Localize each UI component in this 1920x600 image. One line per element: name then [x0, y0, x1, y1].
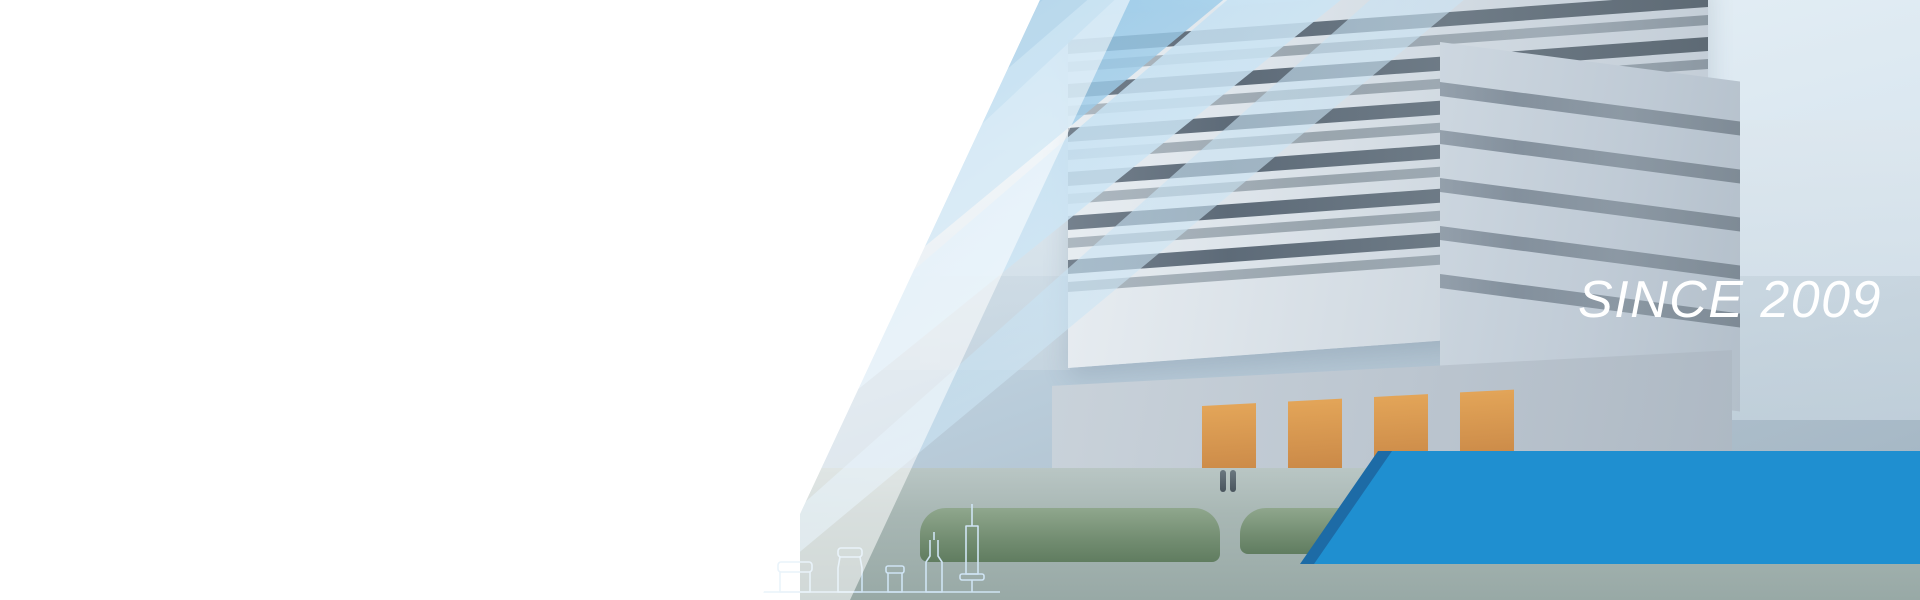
stat-value: 68+: [463, 358, 531, 398]
pedestrian-figure: [1230, 470, 1236, 492]
silhouette-airless-pump: [606, 560, 636, 592]
sgs-certification-logo: SGS: [369, 17, 455, 63]
stat-label-cn: 年: [659, 328, 673, 343]
facade-band: [1440, 178, 1740, 231]
stat-label-cn: 代理商: [354, 328, 395, 343]
iso-logo-text: ISO: [68, 32, 97, 51]
silhouette-flat-tube: [180, 518, 222, 592]
stat-value: 30+: [305, 358, 373, 398]
silhouette-ampoule: [926, 532, 942, 592]
stat-agents: AGENTS代理商 30+: [265, 312, 414, 409]
silhouette-cosmetic-tube: [100, 524, 134, 592]
stat-label-en: CUSTOMERS: [122, 326, 229, 344]
silhouette-wide-jar: [510, 570, 580, 592]
silhouette-squeeze-tube: [32, 512, 62, 592]
silhouette-round-jar: [712, 530, 758, 592]
stat-label-en: YEARS: [599, 326, 656, 344]
stat-value: 3500+: [133, 358, 245, 398]
silhouette-jar: [430, 562, 490, 592]
stat-label-cn: 客户: [232, 328, 259, 343]
certification-logo-row: ISO: [57, 14, 455, 66]
silhouette-cream-jar: [778, 562, 812, 592]
stat-years: YEARS年 20+: [562, 312, 711, 409]
page-subtitle: 致力于乳化灌装生产更合规高效智能: [125, 195, 765, 235]
stat-label-en: AGENTS: [282, 326, 351, 344]
stat-label: YEARS年: [599, 327, 673, 344]
silhouette-small-vial: [886, 566, 904, 592]
since-badge-shape: [1314, 451, 1920, 564]
stat-label-cn: 国家: [525, 328, 552, 343]
facade-band: [1440, 130, 1740, 183]
silhouette-dropper-bottle: [246, 536, 278, 592]
silhouette-syringe: [960, 504, 984, 592]
iso-certification-logo: ISO: [57, 14, 109, 66]
silhouette-tapered-bottle: [376, 532, 406, 592]
product-silhouette-row: [0, 470, 1010, 600]
stat-countries: COUNTRIES国家 68+: [413, 312, 562, 409]
page-title: 乳化灌装集成智造工厂: [125, 112, 765, 183]
flame-emblem-logo: [131, 15, 181, 65]
since-badge: [1300, 451, 1920, 564]
silhouette-vial-bottle: [838, 548, 862, 592]
statistics-bar: CUSTOMERS客户 3500+ AGENTS代理商 30+ COUNTRIE…: [106, 312, 720, 409]
antelope-emblem-logo: [203, 15, 253, 65]
stat-label: AGENTS代理商: [282, 327, 395, 344]
stat-label-en: COUNTRIES: [423, 326, 522, 344]
hero-banner: ISO: [0, 0, 1920, 600]
pedestrian-figure: [1220, 470, 1226, 492]
since-label: SINCE 2009: [1578, 270, 1882, 330]
stat-value: 20+: [604, 358, 672, 398]
stat-label: CUSTOMERS客户: [122, 327, 259, 344]
stat-label: COUNTRIES国家: [423, 327, 552, 344]
silhouette-lotion-pump-bottle: [660, 514, 700, 592]
headline-block: 乳化灌装集成智造工厂 致力于乳化灌装生产更合规高效智能: [125, 112, 765, 235]
ce-marking-logo: [281, 17, 345, 63]
facade-band: [1440, 82, 1740, 135]
left-content-panel: ISO: [0, 0, 1010, 600]
stat-customers: CUSTOMERS客户 3500+: [116, 312, 265, 409]
sgs-logo-text: SGS: [373, 22, 440, 57]
silhouette-capped-bottle: [302, 520, 352, 592]
